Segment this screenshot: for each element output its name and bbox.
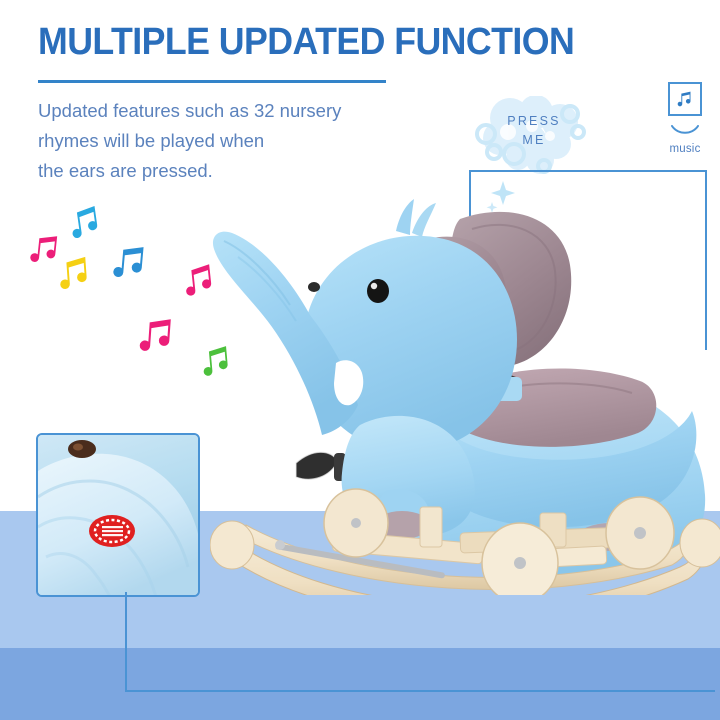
body-line-2: rhymes will be played when [38, 126, 438, 156]
body-line-1: Updated features such as 32 nursery [38, 96, 438, 126]
music-label: music [655, 143, 715, 155]
smile-arc-icon [670, 124, 700, 136]
music-note-icon [668, 82, 702, 116]
elephant-rocking-horse [210, 195, 720, 595]
product-illustration [210, 195, 720, 595]
music-feature-badge: music [655, 82, 715, 155]
music-note-decoration [130, 308, 184, 366]
music-note-decoration [50, 248, 99, 302]
music-note-decoration [61, 197, 111, 252]
closeup-illustration [38, 435, 200, 597]
trunk-detail-callout-frame [125, 600, 715, 692]
music-note-decoration [176, 256, 225, 309]
brand-label [89, 515, 135, 547]
page-title: MULTIPLE UPDATED FUNCTION [38, 22, 649, 64]
press-me-callout: PRESS ME [470, 96, 598, 176]
title-divider [38, 80, 386, 83]
music-note-decoration [104, 236, 156, 293]
press-me-line-2: ME [522, 133, 545, 147]
body-line-3: the ears are pressed. [38, 156, 438, 186]
body-description: Updated features such as 32 nursery rhym… [38, 96, 438, 186]
press-me-line-1: PRESS [507, 114, 560, 128]
infographic-page: MULTIPLE UPDATED FUNCTION Updated featur… [0, 0, 720, 720]
music-note-decoration [194, 338, 240, 388]
trunk-label-closeup [36, 433, 200, 597]
press-me-text: PRESS ME [470, 112, 598, 151]
